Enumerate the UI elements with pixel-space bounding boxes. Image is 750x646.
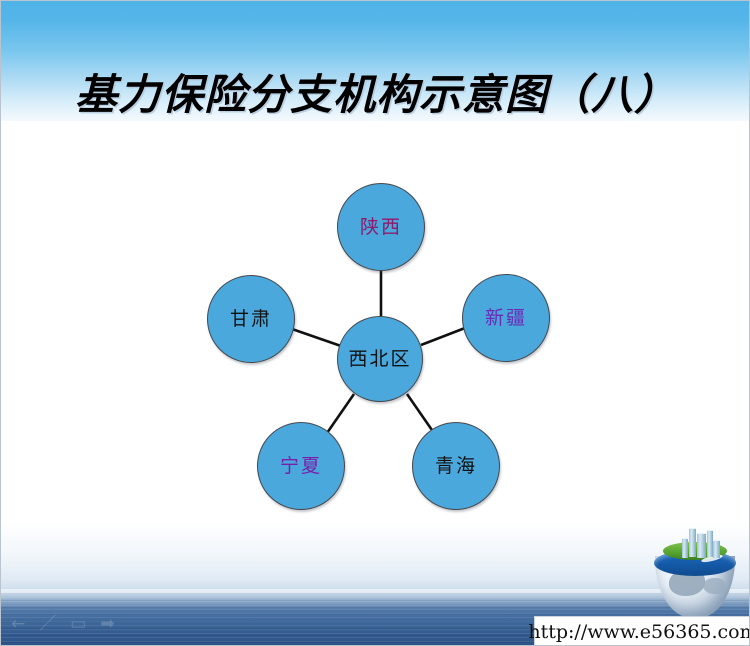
node-shanxi-label: 陕西	[360, 218, 402, 237]
building-icon	[689, 528, 696, 557]
org-chart-diagram: 陕西 甘肃 新疆 宁夏 青海 西北区	[1, 1, 750, 646]
edge-center-ningxia	[327, 394, 354, 433]
edge-center-gansu	[292, 329, 341, 346]
website-url-box[interactable]: http://www.e56365.com	[534, 616, 750, 646]
node-gansu-label: 甘肃	[230, 310, 272, 329]
node-xinjiang[interactable]: 新疆	[462, 274, 550, 362]
node-northwest-region-label: 西北区	[348, 350, 411, 369]
website-url-text: http://www.e56365.com	[528, 621, 750, 643]
node-shanxi[interactable]: 陕西	[337, 183, 425, 271]
building-icon	[682, 538, 688, 558]
earth-city-globe-icon	[649, 528, 741, 620]
node-ningxia-label: 宁夏	[280, 457, 322, 476]
globe-continent-shape-secondary	[703, 578, 725, 594]
presentation-slide: ← ／ ▭ ➡ 基力保险分支机构示意图（八） 陕西 甘肃 新疆 宁夏 青海	[0, 0, 750, 646]
edge-center-qinghai	[407, 394, 434, 433]
node-xinjiang-label: 新疆	[485, 309, 527, 328]
building-icon	[713, 540, 720, 558]
node-northwest-region[interactable]: 西北区	[337, 316, 423, 402]
node-qinghai[interactable]: 青海	[412, 422, 500, 510]
building-icon	[697, 533, 706, 558]
node-ningxia[interactable]: 宁夏	[257, 422, 345, 510]
edge-center-xinjiang	[421, 328, 465, 345]
node-gansu[interactable]: 甘肃	[207, 275, 295, 363]
node-qinghai-label: 青海	[435, 457, 477, 476]
